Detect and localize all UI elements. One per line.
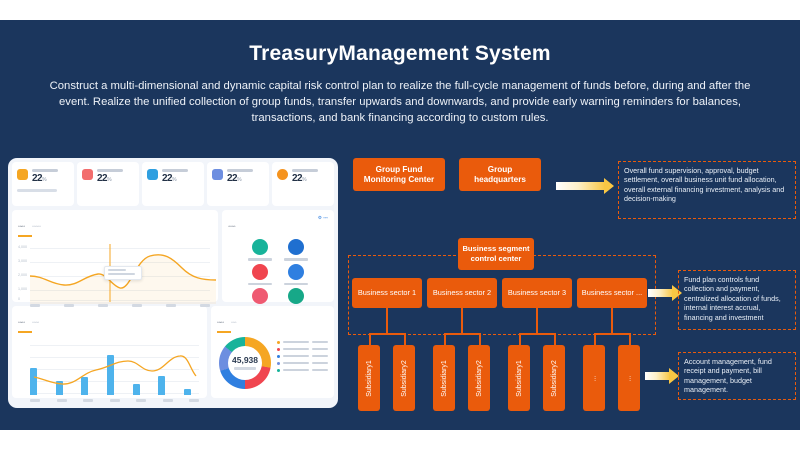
arrow-to-callout-2 <box>648 285 682 301</box>
kpi-subtext <box>17 189 57 192</box>
group-headquarters-box[interactable]: Group headquarters <box>459 158 541 191</box>
active-tab-underline <box>18 235 32 237</box>
connector-bus <box>519 333 555 335</box>
box-label: Subsidiary1 <box>441 360 448 397</box>
legend-row <box>277 369 328 372</box>
connector-drop <box>404 333 406 345</box>
donut-chart: 45,938 <box>219 337 271 389</box>
x-axis-labels <box>30 304 210 307</box>
callout-text: Overall fund supervision, approval, budg… <box>624 166 784 203</box>
box-label: Business sector ... <box>582 288 642 298</box>
subsidiary-box[interactable]: Subsidiary1 <box>358 345 380 411</box>
active-tab-underline <box>217 331 231 333</box>
panel-tab[interactable]: ▫▫▫ <box>231 320 236 326</box>
app-icon <box>252 288 268 304</box>
callout-top: Overall fund supervision, approval, budg… <box>618 161 796 219</box>
app-icon <box>288 264 304 280</box>
subsidiary-box[interactable]: Subsidiary2 <box>543 345 565 411</box>
kpi-card: 22% <box>142 162 204 206</box>
connector-stem <box>461 308 463 334</box>
box-label: ... <box>591 375 598 381</box>
line-chart: 4,000 3,000 2,000 1,000 0 <box>18 242 212 306</box>
business-sector-4-box[interactable]: Business sector ... <box>577 278 647 308</box>
box-label: Business segment control center <box>460 244 532 264</box>
box-label: Subsidiary2 <box>401 360 408 397</box>
kpi-label <box>292 169 318 172</box>
box-label: Subsidiary2 <box>551 360 558 397</box>
subsidiary-box[interactable]: ... <box>583 345 605 411</box>
business-sector-2-box[interactable]: Business sector 2 <box>427 278 497 308</box>
connector-bus <box>594 333 630 335</box>
app-item[interactable] <box>281 239 311 261</box>
panel-title: ▫▫▫▫ <box>217 320 224 326</box>
callout-bottom: Account management, fund receipt and pay… <box>678 352 796 400</box>
kpi-value: 22% <box>32 173 58 184</box>
arrow-to-callout-1 <box>556 178 614 194</box>
bar-chart-panel: ▫▫▫▫▫▫▫▫ <box>12 306 207 398</box>
box-label: Business sector 1 <box>358 288 416 298</box>
kpi-icon <box>147 169 158 180</box>
business-sector-1-box[interactable]: Business sector 1 <box>352 278 422 308</box>
kpi-label <box>32 169 58 172</box>
app-item[interactable] <box>281 264 311 286</box>
x-axis-labels <box>30 399 199 402</box>
app-grid <box>228 239 328 310</box>
dashboard-screenshot: 22% 22% 22% <box>8 158 338 408</box>
group-fund-monitoring-center-box[interactable]: Group Fund Monitoring Center <box>353 158 445 191</box>
donut-center-value: 45,938 <box>232 355 258 365</box>
connector-drop <box>369 333 371 345</box>
page-title: TreasuryManagement System <box>0 42 800 66</box>
box-label: ... <box>626 375 633 381</box>
subsidiary-box[interactable]: Subsidiary2 <box>468 345 490 411</box>
line-chart-panel: ▫▫▫▫▫▫▫▫▫ 4,000 3,000 2,000 1,000 0 <box>12 210 218 302</box>
app-item[interactable] <box>245 239 275 261</box>
legend-row <box>277 348 328 351</box>
callout-text: Fund plan controls fund collection and p… <box>684 275 781 322</box>
app-icon <box>252 264 268 280</box>
active-tab-underline <box>18 331 32 333</box>
bar-chart <box>18 339 201 401</box>
donut-legend <box>271 337 328 389</box>
connector-stem <box>611 308 613 334</box>
kpi-card: 22% <box>77 162 139 206</box>
subsidiary-box[interactable]: Subsidiary1 <box>508 345 530 411</box>
kpi-value: 22% <box>227 173 253 184</box>
page-subtitle: Construct a multi-dimensional and dynami… <box>40 78 760 126</box>
chart-tooltip <box>104 266 142 280</box>
box-label: Subsidiary1 <box>516 360 523 397</box>
bar-overlay-line <box>30 343 200 399</box>
legend-row <box>277 341 328 344</box>
callout-text: Account management, fund receipt and pay… <box>684 357 772 394</box>
panel-tab[interactable]: ▫▫▫▫▫ <box>32 224 41 230</box>
legend-row <box>277 355 328 358</box>
connector-drop <box>479 333 481 345</box>
connector-drop <box>519 333 521 345</box>
box-label: Subsidiary1 <box>366 360 373 397</box>
kpi-label <box>227 169 253 172</box>
app-item[interactable] <box>245 264 275 286</box>
panel-title: ▫▫▫▫ <box>18 320 25 326</box>
connector-drop <box>554 333 556 345</box>
kpi-label <box>97 169 123 172</box>
panel-title: ▫▫▫▫ <box>18 224 25 230</box>
kpi-card: 22% <box>207 162 269 206</box>
box-label: Group Fund Monitoring Center <box>355 165 443 185</box>
kpi-card: 22% <box>272 162 334 206</box>
kpi-value: 22% <box>97 173 123 184</box>
connector-stem <box>536 308 538 334</box>
legend-row <box>277 362 328 365</box>
box-label: Group headquarters <box>461 165 539 185</box>
kpi-value: 22% <box>292 173 318 184</box>
business-sector-3-box[interactable]: Business sector 3 <box>502 278 572 308</box>
kpi-icon <box>277 169 288 180</box>
connector-drop <box>629 333 631 345</box>
more-link[interactable]: ⚙ ▫▫▫ <box>318 215 328 221</box>
connector-stem <box>386 308 388 334</box>
kpi-icon <box>212 169 223 180</box>
business-segment-control-center-box[interactable]: Business segment control center <box>458 238 534 270</box>
app-icon <box>288 288 304 304</box>
subsidiary-box[interactable]: Subsidiary1 <box>433 345 455 411</box>
box-label: Business sector 3 <box>508 288 566 298</box>
subsidiary-box[interactable]: ... <box>618 345 640 411</box>
kpi-strip: 22% 22% 22% <box>8 158 338 208</box>
kpi-card: 22% <box>12 162 74 206</box>
panel-tab[interactable]: ▫▫▫▫ <box>32 320 39 326</box>
slide-canvas: TreasuryManagement System Construct a mu… <box>0 20 800 430</box>
arrow-to-callout-3 <box>645 368 679 384</box>
connector-drop <box>444 333 446 345</box>
kpi-icon <box>82 169 93 180</box>
app-icon <box>288 239 304 255</box>
kpi-value: 22% <box>162 173 188 184</box>
box-label: Subsidiary2 <box>476 360 483 397</box>
panel-title: ▫▫▫▫ <box>228 224 235 230</box>
kpi-icon <box>17 169 28 180</box>
callout-middle: Fund plan controls fund collection and p… <box>678 270 796 330</box>
quick-apps-panel: ▫▫▫▫⚙ ▫▫▫ <box>222 210 334 302</box>
app-icon <box>252 239 268 255</box>
donut-chart-panel: ▫▫▫▫▫▫▫ 45,938 <box>211 306 334 398</box>
kpi-label <box>162 169 188 172</box>
connector-bus <box>444 333 480 335</box>
subsidiary-box[interactable]: Subsidiary2 <box>393 345 415 411</box>
box-label: Business sector 2 <box>433 288 491 298</box>
connector-bus <box>369 333 405 335</box>
connector-drop <box>594 333 596 345</box>
